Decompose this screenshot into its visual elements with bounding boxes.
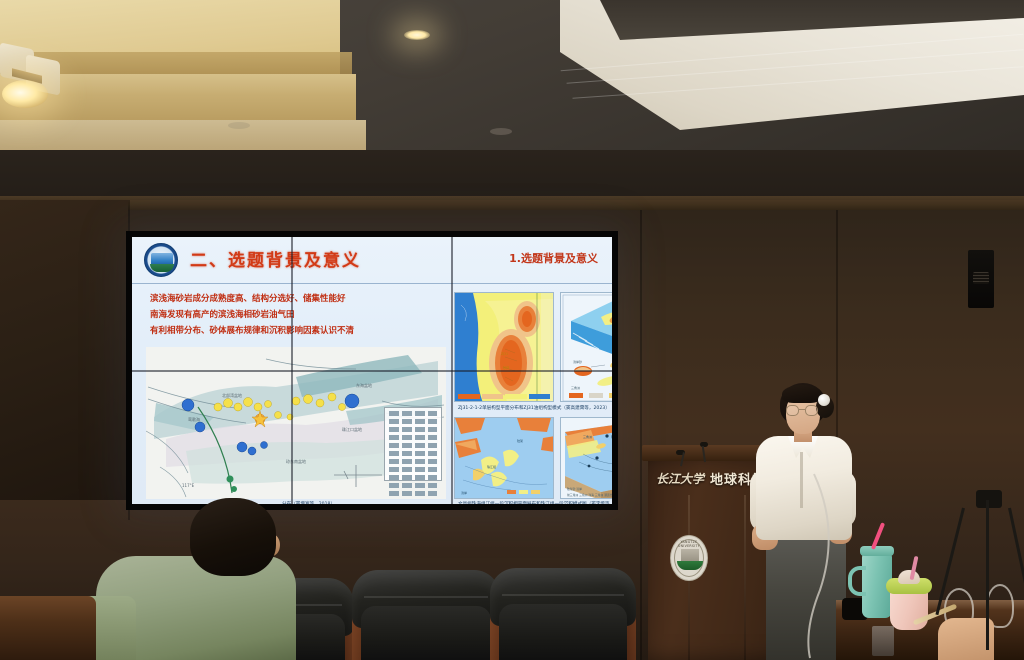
wall-chair-rail [0, 196, 1024, 210]
svg-text:琼东南盆地: 琼东南盆地 [286, 458, 306, 464]
slide-bullet-2: 南海发现有高产的滨浅海相砂岩油气田 [150, 307, 450, 323]
figure-caption-facies: 文昌组珠海组江组一段沉积相平面展布和珠江组一段沉积模式图（窦李传等，2019） [458, 501, 612, 504]
slide-bullet-list: 滨浅海砂岩成分成熟度高、结构分选好、储集性能好 南海发现有高产的滨浅海相砂岩油气… [150, 291, 450, 339]
svg-text:三角洲: 三角洲 [571, 385, 580, 390]
tumbler-handle [848, 566, 866, 596]
tumbler-lid [860, 546, 894, 556]
figure-depositional-model-block: 陆架砂 三角洲 滨岸 浅海 陆架砂 滨岸 前三角洲 三角洲 浅海 三角洲 潮道分… [560, 417, 612, 499]
figure-regional-geological-map: 北部湾盆地 东海盆地 珠江口盆地 琼东南盆地 莺歌海 117°E [146, 347, 446, 499]
ceiling-beam-left-lower [0, 120, 366, 154]
svg-text:滨岸: 滨岸 [461, 490, 467, 495]
audience-head [190, 498, 276, 576]
chair-3[interactable] [490, 568, 636, 660]
wall-sconce-left [0, 28, 74, 112]
table-left [0, 596, 96, 660]
svg-text:莺歌海: 莺歌海 [188, 416, 200, 422]
svg-text:陆架: 陆架 [517, 438, 523, 443]
glasses-bridge [799, 409, 805, 410]
svg-text:ZJ31: ZJ31 [501, 352, 508, 356]
small-glass [872, 626, 894, 656]
seal-text: YANGTZE UNIVERSITY [671, 540, 707, 548]
slide-header: 二、选题背景及意义 1.选题背景及意义 [132, 237, 612, 284]
svg-text:前三角洲 三角洲 浅海 三角洲 潮道分流: 前三角洲 三角洲 浅海 三角洲 潮道分流 [567, 493, 612, 497]
recessed-downlight-off-icon [490, 128, 512, 135]
figure-structural-contour-map: ZJ31 砂体 [454, 292, 554, 402]
video-wall-display[interactable]: 二、选题背景及意义 1.选题背景及意义 滨浅海砂岩成分成熟度高、结构分选好、储集… [126, 231, 618, 510]
podium-university-name: 长江大学 [656, 470, 704, 487]
yangtze-university-seal-icon: YANGTZE UNIVERSITY [670, 535, 708, 581]
presenter-hair-clip [818, 394, 830, 406]
speaker-grille-icon [973, 272, 989, 284]
slide-bullet-3: 有利相带分布、砂体展布规律和沉积影响因素认识不清 [150, 323, 450, 339]
figure-sedimentary-facies-plan-map: 珠江组 陆架 滨岸 [454, 417, 554, 499]
conference-room-scene: 二、选题背景及意义 1.选题背景及意义 滨浅海砂岩成分成熟度高、结构分选好、储集… [0, 0, 1024, 660]
wall-left-shadow [0, 200, 128, 500]
depositional-block-graphic: 陆架砂 三角洲 滨岸 浅海 陆架砂 滨岸 前三角洲 三角洲 浅海 三角洲 潮道分… [561, 418, 612, 499]
slide-bullet-1: 滨浅海砂岩成分成熟度高、结构分选好、储集性能好 [150, 291, 450, 307]
block-model-graphic: 砂坝 潮道砂 滨岸砂 三角洲 [561, 293, 612, 402]
slide-title-right: 1.选题背景及意义 [509, 250, 598, 266]
svg-text:东海盆地: 东海盆地 [356, 382, 372, 388]
podium-groove-2 [744, 495, 746, 660]
svg-text:珠江组: 珠江组 [487, 464, 496, 469]
wall-loudspeaker [968, 250, 994, 308]
svg-text:滨岸砂: 滨岸砂 [573, 359, 582, 364]
figure-caption-map: 分布（窦增富等，2018） [282, 501, 335, 504]
svg-text:117°E: 117°E [182, 483, 195, 488]
chair-back [499, 604, 627, 660]
presenter-hair-fringe [782, 385, 822, 403]
glasses-lens-left [786, 405, 799, 416]
glasses-lens-right [805, 405, 818, 416]
yangtze-university-emblem-icon [144, 243, 178, 277]
screen-surface[interactable]: 二、选题背景及意义 1.选题背景及意义 滨浅海砂岩成分成熟度高、结构分选好、储集… [132, 237, 612, 504]
chair-back [361, 606, 491, 660]
camera-tripod-column [986, 500, 989, 650]
svg-text:陆架砂: 陆架砂 [611, 434, 612, 439]
chair-2[interactable] [352, 570, 500, 660]
sconce-bulb-glow [2, 80, 48, 108]
camera-tripod-head [976, 490, 1002, 508]
recessed-downlight-off-icon-2 [228, 122, 250, 129]
facies-map-graphic: 珠江组 陆架 滨岸 [455, 418, 554, 499]
svg-text:珠江口盆地: 珠江口盆地 [342, 426, 362, 432]
figure-caption-contour: ZJ31-2-1-2单层构型平面分布和ZJ31油组构型模式（窦高建霄等，2023… [458, 405, 610, 411]
contour-map-graphic: ZJ31 砂体 [455, 293, 554, 402]
figure-3d-block-sandbody-model: 砂坝 潮道砂 滨岸砂 三角洲 [560, 292, 612, 402]
wall-seam-1 [640, 210, 642, 660]
svg-text:北部湾盆地: 北部湾盆地 [222, 392, 242, 398]
svg-text:陆架砂 滨岸: 陆架砂 滨岸 [567, 487, 582, 491]
map-legend-box [384, 407, 442, 481]
svg-text:三角洲: 三角洲 [583, 434, 592, 439]
svg-text:砂体: 砂体 [503, 365, 510, 370]
contour-color-key [458, 394, 550, 399]
slide-title-left: 二、选题背景及意义 [190, 246, 361, 271]
pink-green-cup[interactable] [890, 588, 928, 630]
presenter-glasses-icon [786, 405, 818, 416]
recessed-downlight-icon [404, 30, 430, 40]
presentation-slide: 二、选题背景及意义 1.选题背景及意义 滨浅海砂岩成分成熟度高、结构分选好、储集… [132, 237, 612, 504]
